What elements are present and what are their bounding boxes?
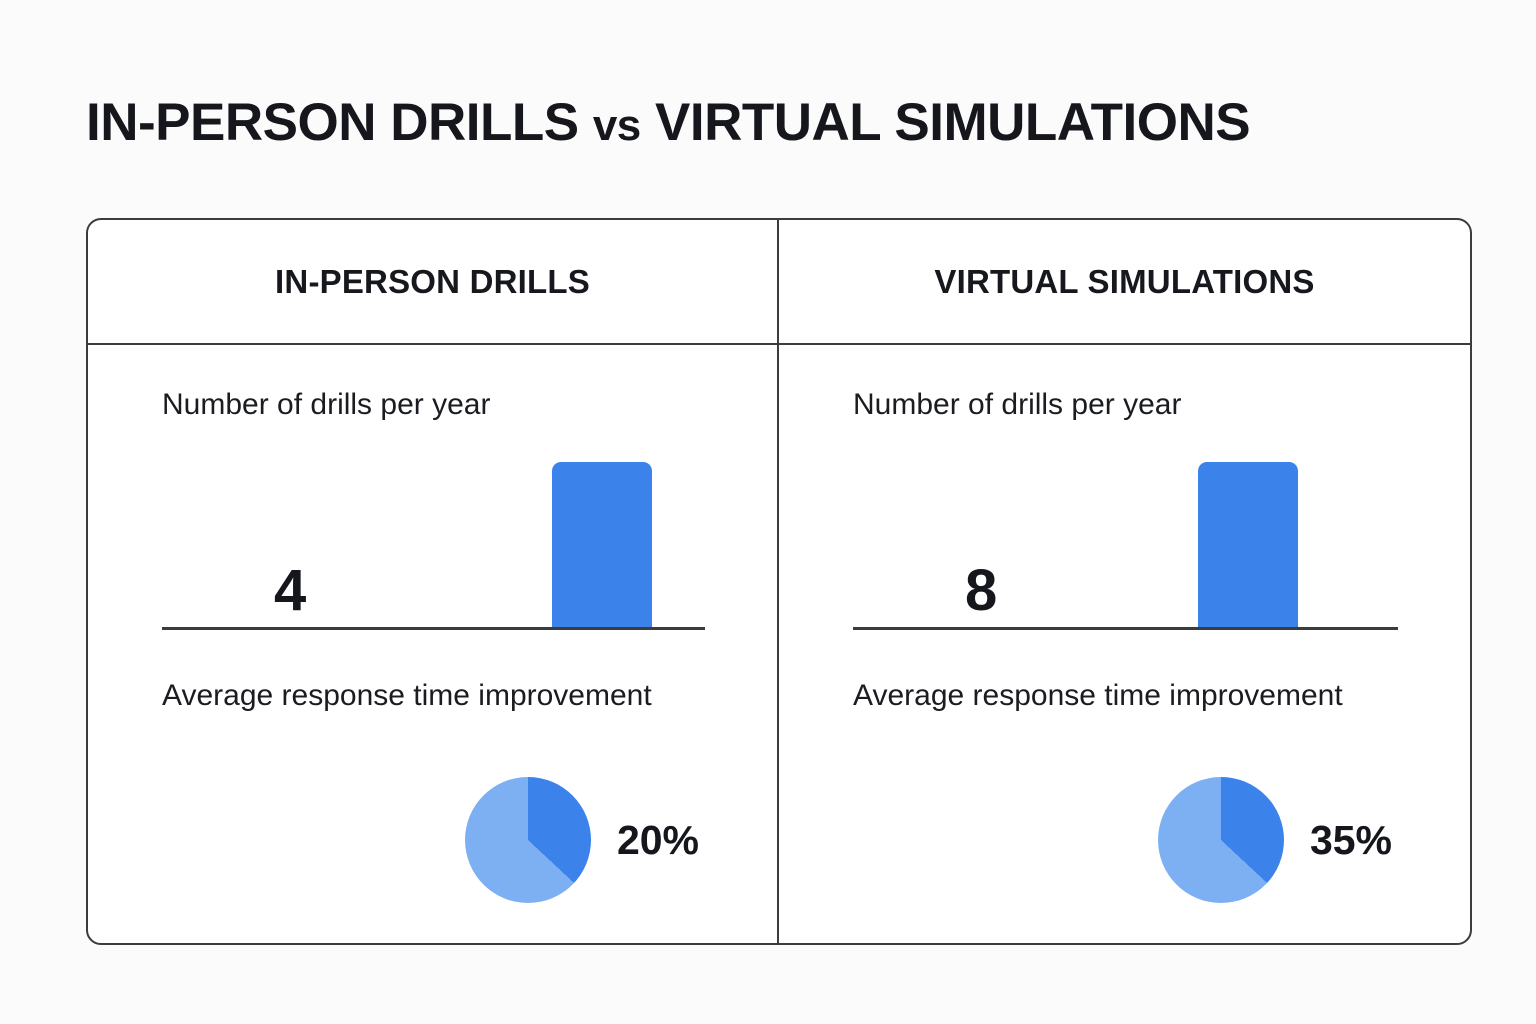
pie-with-value: 20% (465, 777, 699, 903)
metric-response-time-improvement: Average response time improvement 35% (779, 630, 1470, 903)
column-header-label: VIRTUAL SIMULATIONS (779, 220, 1470, 343)
metric-label: Average response time improvement (853, 676, 1398, 715)
metric-label: Number of drills per year (162, 385, 705, 424)
page-title-vs: vs (593, 101, 641, 150)
column-header-in-person-drills: IN-PERSON DRILLS (88, 220, 779, 343)
metric-drills-per-year: Number of drills per year 8 (779, 345, 1470, 630)
metric-label: Average response time improvement (162, 676, 705, 715)
bar-value-label: 4 (274, 562, 306, 620)
pie-chart-virtual: 35% (853, 733, 1398, 903)
pie-value-label: 35% (1310, 820, 1392, 861)
bar-virtual-simulations (1198, 462, 1298, 627)
column-header-label: IN-PERSON DRILLS (88, 220, 777, 343)
bar-baseline-axis (162, 627, 705, 630)
pie-chart-in-person: 20% (162, 733, 705, 903)
pie-value-label: 20% (617, 820, 699, 861)
metric-label: Number of drills per year (853, 385, 1398, 424)
pie-chart-icon (1158, 777, 1284, 903)
pie-chart-icon (465, 777, 591, 903)
bar-chart-in-person: 4 (162, 438, 705, 630)
card-body-row: Number of drills per year 4 Average resp… (88, 345, 1470, 943)
metric-response-time-improvement: Average response time improvement 20% (88, 630, 777, 903)
comparison-card: IN-PERSON DRILLS VIRTUAL SIMULATIONS Num… (86, 218, 1472, 945)
column-header-virtual-simulations: VIRTUAL SIMULATIONS (779, 220, 1470, 343)
card-header-row: IN-PERSON DRILLS VIRTUAL SIMULATIONS (88, 220, 1470, 345)
metric-drills-per-year: Number of drills per year 4 (88, 345, 777, 630)
bar-chart-virtual: 8 (853, 438, 1398, 630)
bar-value-label: 8 (965, 562, 997, 620)
page-title-part2: VIRTUAL SIMULATIONS (655, 93, 1250, 152)
bar-in-person-drills (552, 462, 652, 627)
page-title-part1: IN-PERSON DRILLS (86, 93, 579, 152)
column-virtual-simulations: Number of drills per year 8 Average resp… (779, 345, 1470, 943)
column-in-person-drills: Number of drills per year 4 Average resp… (88, 345, 779, 943)
bar-baseline-axis (853, 627, 1398, 630)
page-title: IN-PERSON DRILLS vs VIRTUAL SIMULATIONS (86, 92, 1250, 153)
pie-with-value: 35% (1158, 777, 1392, 903)
